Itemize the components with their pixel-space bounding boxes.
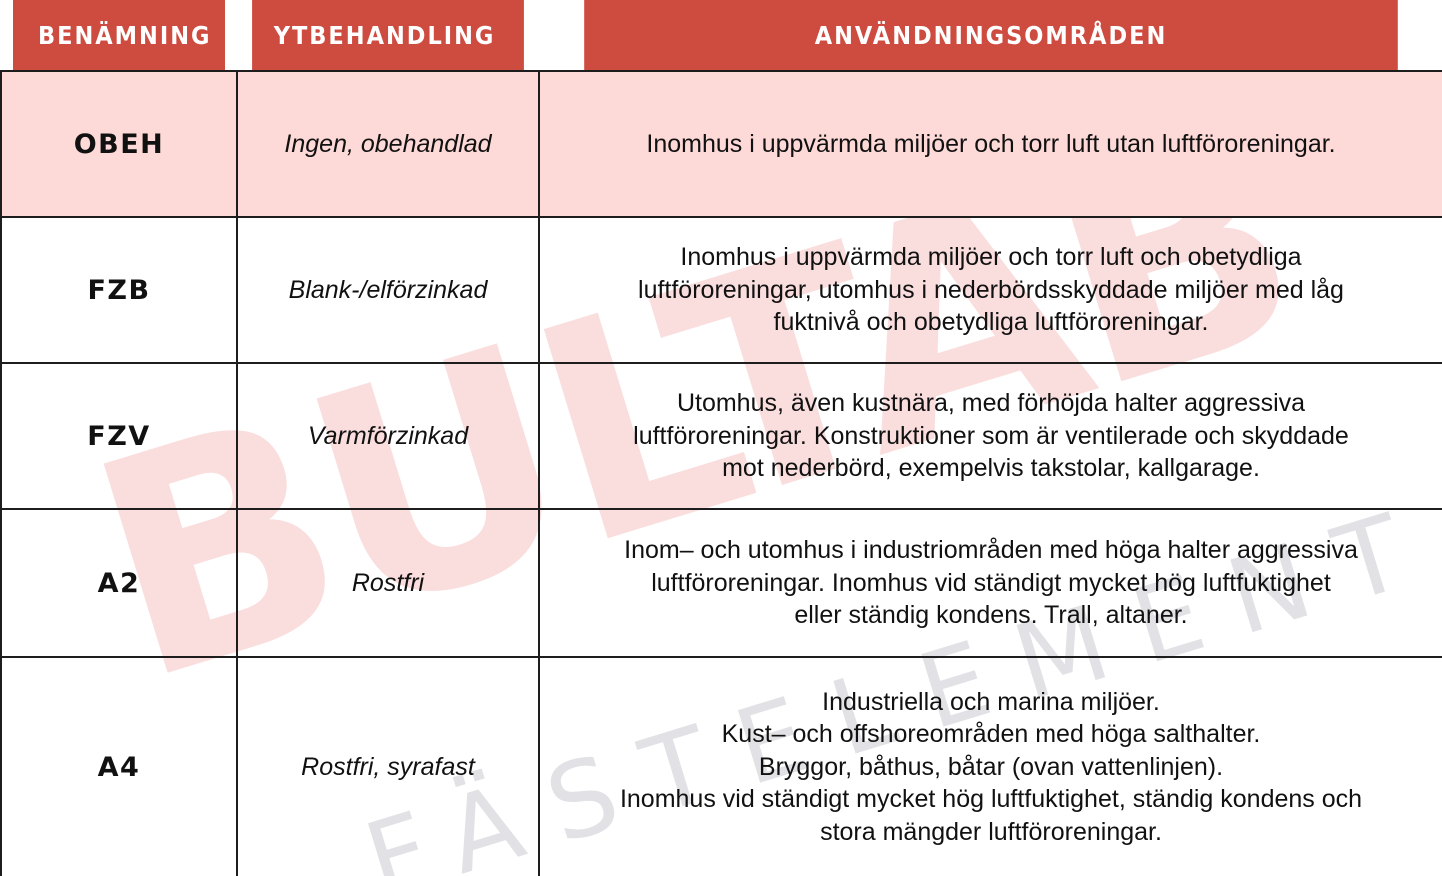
cell-ytbehandling: Varmförzinkad [237, 363, 539, 509]
cell-benamning: A2 [1, 509, 237, 657]
text-line: Industriella och marina miljöer. [566, 686, 1416, 719]
text-line: Kust– och offshoreområden med höga salth… [566, 718, 1416, 751]
table-body: OBEH Ingen, obehandlad Inomhus i uppvärm… [1, 71, 1442, 876]
text-line: mot nederbörd, exempelvis takstolar, kal… [566, 452, 1416, 485]
cell-anvandningsomraden: Inomhus i uppvärmda miljöer och torr luf… [539, 217, 1442, 363]
table-row: OBEH Ingen, obehandlad Inomhus i uppvärm… [1, 71, 1442, 217]
text-line: Inomhus i uppvärmda miljöer och torr luf… [566, 128, 1416, 161]
table-row: FZB Blank-/elförzinkad Inomhus i uppvärm… [1, 217, 1442, 363]
cell-anvandningsomraden: Utomhus, även kustnära, med förhöjda hal… [539, 363, 1442, 509]
text-line: luftföroreningar, utomhus i nederbördssk… [566, 274, 1416, 307]
text-line: fuktnivå och obetydliga luftföroreningar… [566, 306, 1416, 339]
text-line: Utomhus, även kustnära, med förhöjda hal… [566, 387, 1416, 420]
cell-ytbehandling: Ingen, obehandlad [237, 71, 539, 217]
header-row: BENÄMNING YTBEHANDLING ANVÄNDNINGSOMRÅDE… [1, 0, 1442, 71]
cell-benamning: FZB [1, 217, 237, 363]
table-container: BENÄMNING YTBEHANDLING ANVÄNDNINGSOMRÅDE… [0, 0, 1442, 876]
text-line: Bryggor, båthus, båtar (ovan vattenlinje… [566, 751, 1416, 784]
surface-treatment-table: BENÄMNING YTBEHANDLING ANVÄNDNINGSOMRÅDE… [0, 0, 1442, 876]
table-row: A2 Rostfri Inom– och utomhus i industrio… [1, 509, 1442, 657]
cell-benamning: FZV [1, 363, 237, 509]
text-line: luftföroreningar. Konstruktioner som är … [566, 420, 1416, 453]
column-header-benamning: BENÄMNING [13, 0, 225, 71]
text-line: luftföroreningar. Inomhus vid ständigt m… [566, 567, 1416, 600]
text-line: eller ständig kondens. Trall, altaner. [566, 599, 1416, 632]
column-header-ytbehandling: YTBEHANDLING [252, 0, 524, 71]
cell-anvandningsomraden: Industriella och marina miljöer. Kust– o… [539, 657, 1442, 876]
cell-benamning: OBEH [1, 71, 237, 217]
cell-anvandningsomraden: Inom– och utomhus i industriområden med … [539, 509, 1442, 657]
text-line: stora mängder luftföroreningar. [566, 816, 1416, 849]
cell-benamning: A4 [1, 657, 237, 876]
cell-ytbehandling: Rostfri [237, 509, 539, 657]
text-line: Inomhus vid ständigt mycket hög luftfukt… [566, 783, 1416, 816]
table-row: A4 Rostfri, syrafast Industriella och ma… [1, 657, 1442, 876]
surface-treatment-table-page: BULTAB FÄSTELEMENT BENÄMNING YTBEHANDLIN… [0, 0, 1442, 876]
cell-ytbehandling: Blank-/elförzinkad [237, 217, 539, 363]
text-line: Inom– och utomhus i industriområden med … [566, 534, 1416, 567]
column-header-anvandningsomraden: ANVÄNDNINGSOMRÅDEN [584, 0, 1398, 71]
cell-ytbehandling: Rostfri, syrafast [237, 657, 539, 876]
table-header: BENÄMNING YTBEHANDLING ANVÄNDNINGSOMRÅDE… [1, 0, 1442, 71]
table-row: FZV Varmförzinkad Utomhus, även kustnära… [1, 363, 1442, 509]
cell-anvandningsomraden: Inomhus i uppvärmda miljöer och torr luf… [539, 71, 1442, 217]
text-line: Inomhus i uppvärmda miljöer och torr luf… [566, 241, 1416, 274]
